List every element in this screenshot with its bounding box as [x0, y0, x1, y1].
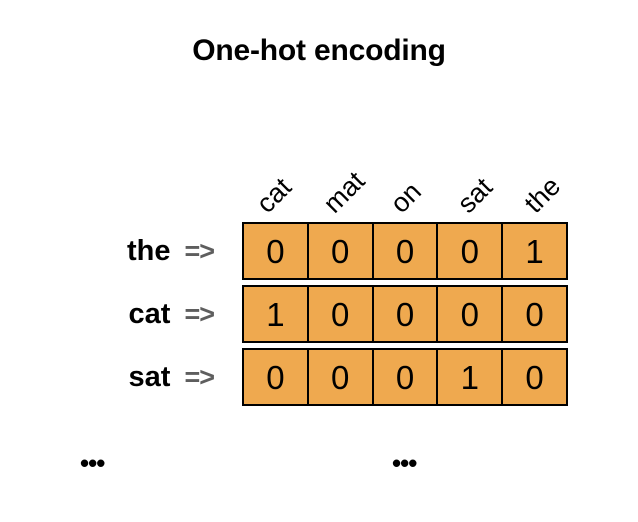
column-header-row: cat mat on sat the	[242, 120, 576, 220]
maps-to-arrow-icon: =>	[184, 238, 214, 265]
one-hot-matrix: 0 0 0 0 1 1 0 0 0 0 0 0 0 1 0	[242, 222, 576, 411]
row-word: the	[127, 237, 171, 266]
matrix-cell: 1	[501, 222, 568, 280]
row-word: sat	[129, 363, 171, 392]
column-header-sat: sat	[442, 120, 509, 220]
column-header-label: cat	[252, 173, 297, 218]
column-header-label: sat	[453, 173, 498, 218]
table-row: 1 0 0 0 0	[242, 285, 576, 343]
column-header-label: the	[519, 172, 565, 218]
maps-to-arrow-icon: =>	[184, 301, 214, 328]
one-hot-encoding-figure: One-hot encoding cat mat on sat the the …	[0, 0, 638, 522]
matrix-cell: 1	[436, 348, 503, 406]
column-header-the: the	[509, 120, 576, 220]
matrix-cell: 0	[372, 222, 439, 280]
maps-to-arrow-icon: =>	[184, 364, 214, 391]
row-label-the: the =>	[0, 222, 236, 280]
matrix-cell: 0	[372, 348, 439, 406]
matrix-cell: 0	[372, 285, 439, 343]
column-header-on: on	[376, 120, 443, 220]
column-header-cat: cat	[242, 120, 309, 220]
column-header-mat: mat	[309, 120, 376, 220]
row-word: cat	[129, 300, 171, 329]
matrix-cell: 0	[307, 348, 374, 406]
matrix-cell: 0	[436, 222, 503, 280]
table-row: 0 0 0 1 0	[242, 348, 576, 406]
column-header-label: mat	[319, 167, 370, 218]
matrix-cell: 0	[307, 285, 374, 343]
page-title: One-hot encoding	[0, 34, 638, 68]
matrix-cell: 0	[242, 222, 309, 280]
ellipsis-rows: •••	[80, 450, 104, 476]
matrix-cell: 0	[307, 222, 374, 280]
matrix-cell: 1	[242, 285, 309, 343]
row-label-column: the => cat => sat =>	[0, 222, 236, 411]
table-row: 0 0 0 0 1	[242, 222, 576, 280]
matrix-cell: 0	[436, 285, 503, 343]
matrix-cell: 0	[501, 285, 568, 343]
matrix-cell: 0	[242, 348, 309, 406]
matrix-cell: 0	[501, 348, 568, 406]
ellipsis-matrix: •••	[392, 450, 416, 476]
row-label-cat: cat =>	[0, 285, 236, 343]
row-label-sat: sat =>	[0, 348, 236, 406]
column-header-label: on	[386, 178, 426, 218]
